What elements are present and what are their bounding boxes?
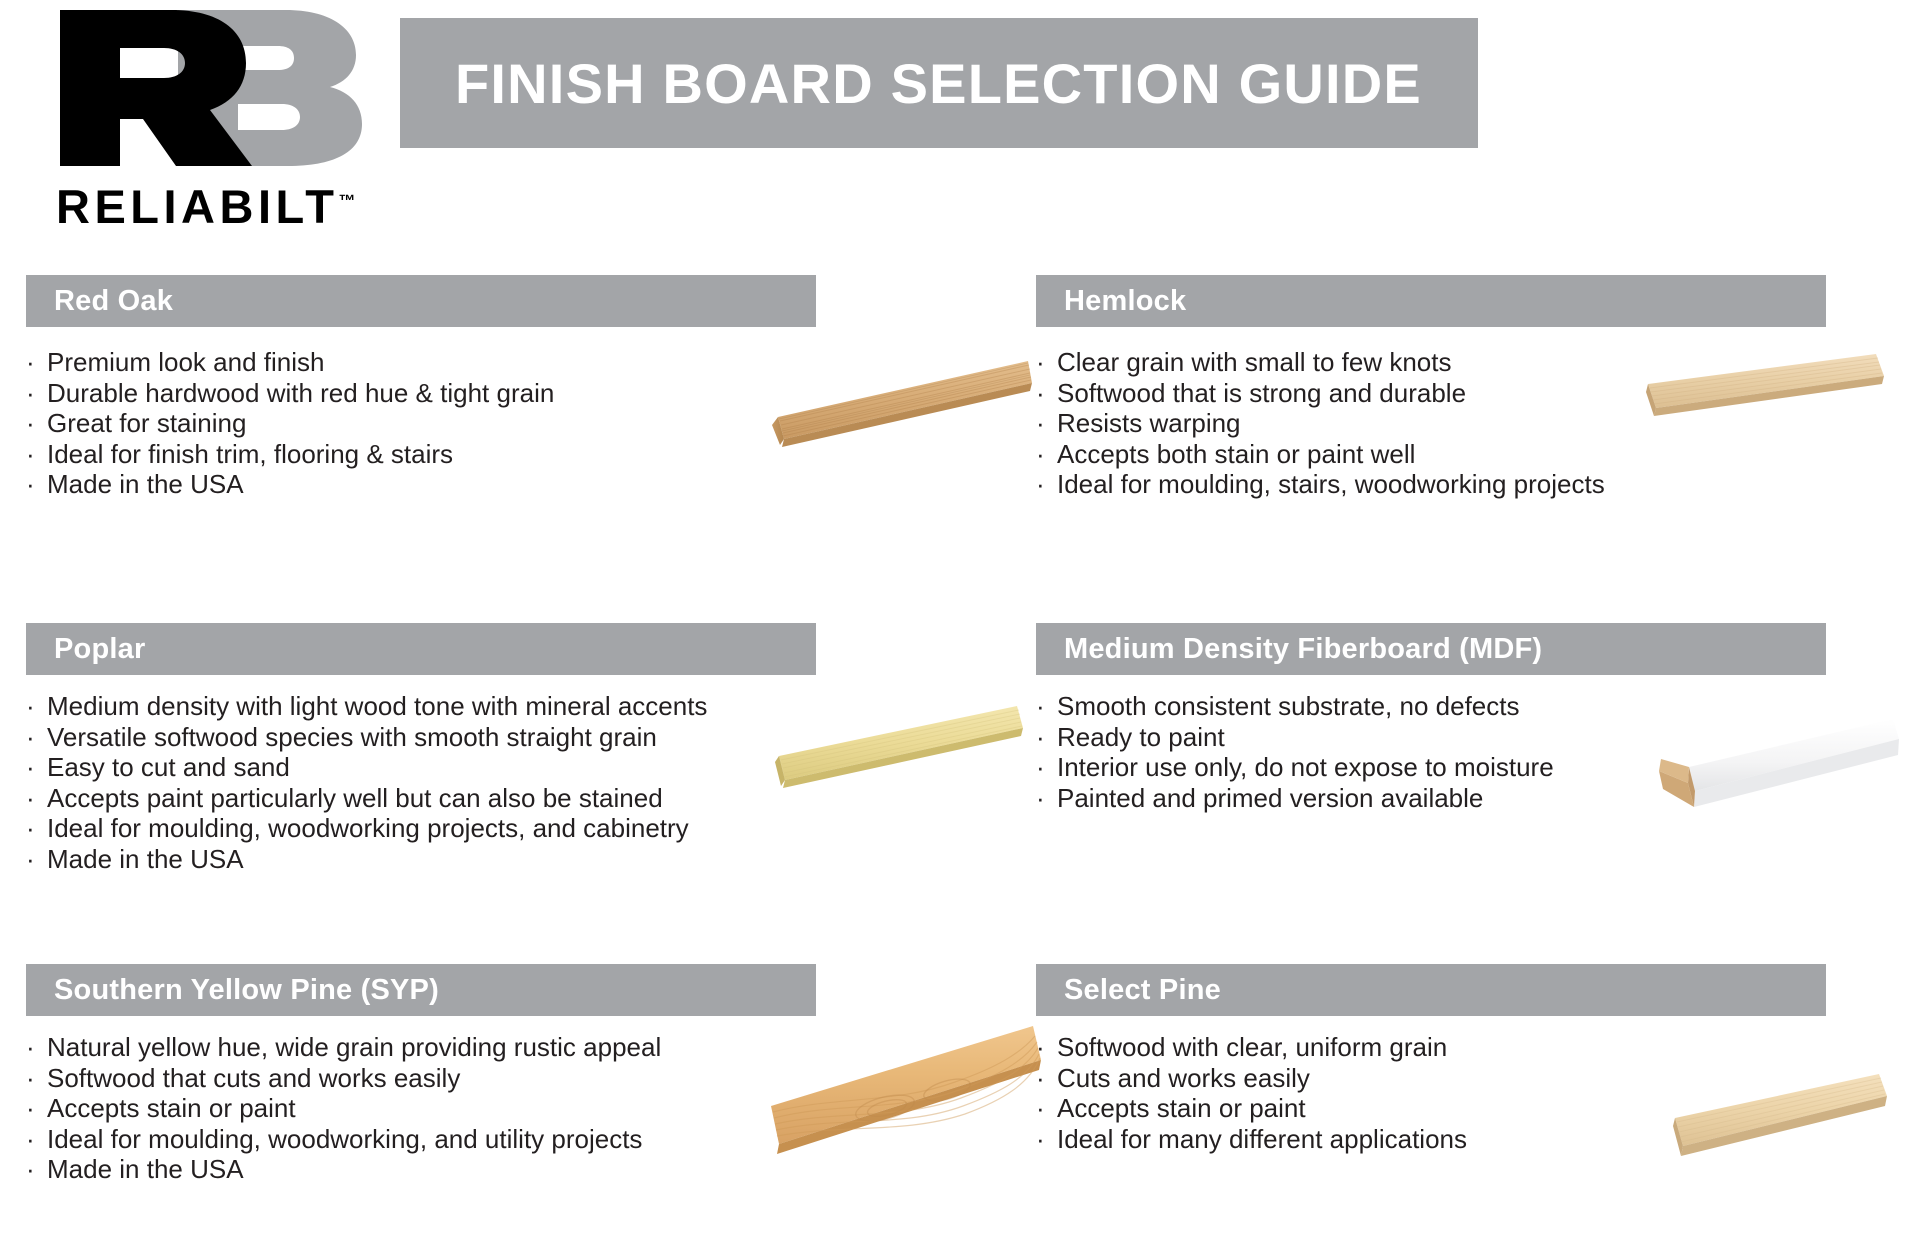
- card-hemlock: Hemlock ·Clear grain with small to few k…: [1036, 275, 1916, 500]
- list-item: ·Softwood that cuts and works easily: [26, 1063, 846, 1094]
- bullet-icon: ·: [1036, 347, 1057, 378]
- bullet-icon: ·: [1036, 752, 1057, 783]
- page-title: FINISH BOARD SELECTION GUIDE: [455, 51, 1422, 116]
- list-item: ·Ideal for many different applications: [1036, 1124, 1916, 1155]
- list-item-text: Smooth consistent substrate, no defects: [1057, 691, 1519, 722]
- card-title: Medium Density Fiberboard (MDF): [1064, 633, 1542, 666]
- list-item-text: Accepts stain or paint: [47, 1093, 296, 1124]
- card-poplar: Poplar ·Medium density with light wood t…: [26, 623, 846, 874]
- list-item: ·Great for staining: [26, 408, 846, 439]
- page-header: RELIABILT™ FINISH BOARD SELECTION GUIDE: [0, 0, 1920, 230]
- list-item: ·Softwood that is strong and durable: [1036, 378, 1916, 409]
- list-item-text: Ideal for finish trim, flooring & stairs: [47, 439, 453, 470]
- card-red-oak: Red Oak ·Premium look and finish ·Durabl…: [26, 275, 846, 500]
- bullet-icon: ·: [26, 813, 47, 844]
- bullet-icon: ·: [1036, 1032, 1057, 1063]
- list-item: ·Accepts paint particularly well but can…: [26, 783, 846, 814]
- list-item-text: Softwood with clear, uniform grain: [1057, 1032, 1447, 1063]
- card-select-pine: Select Pine ·Softwood with clear, unifor…: [1036, 964, 1916, 1154]
- card-header-poplar: Poplar: [26, 623, 816, 675]
- bullet-icon: ·: [26, 1154, 47, 1185]
- list-item: ·Easy to cut and sand: [26, 752, 846, 783]
- list-item: ·Medium density with light wood tone wit…: [26, 691, 846, 722]
- list-item-text: Ideal for moulding, woodworking projects…: [47, 813, 689, 844]
- list-item: ·Resists warping: [1036, 408, 1916, 439]
- bullet-icon: ·: [1036, 1124, 1057, 1155]
- feature-list-syp: ·Natural yellow hue, wide grain providin…: [26, 1016, 846, 1185]
- list-item: ·Softwood with clear, uniform grain: [1036, 1032, 1916, 1063]
- card-title: Red Oak: [54, 285, 173, 318]
- list-item-text: Durable hardwood with red hue & tight gr…: [47, 378, 554, 409]
- bullet-icon: ·: [26, 844, 47, 875]
- bullet-icon: ·: [1036, 469, 1057, 500]
- wood-cards-grid: Red Oak ·Premium look and finish ·Durabl…: [0, 230, 1920, 1244]
- list-item: ·Ideal for finish trim, flooring & stair…: [26, 439, 846, 470]
- list-item: ·Versatile softwood species with smooth …: [26, 722, 846, 753]
- list-item: ·Cuts and works easily: [1036, 1063, 1916, 1094]
- feature-list-select-pine: ·Softwood with clear, uniform grain ·Cut…: [1036, 1016, 1916, 1154]
- card-title: Poplar: [54, 633, 145, 666]
- list-item: ·Accepts stain or paint: [1036, 1093, 1916, 1124]
- card-mdf: Medium Density Fiberboard (MDF) ·Smooth …: [1036, 623, 1916, 813]
- bullet-icon: ·: [26, 1093, 47, 1124]
- card-southern-yellow-pine: Southern Yellow Pine (SYP) ·Natural yell…: [26, 964, 846, 1185]
- trademark-symbol: ™: [338, 191, 355, 210]
- bullet-icon: ·: [1036, 378, 1057, 409]
- reliabilt-wordmark: RELIABILT™: [56, 183, 355, 230]
- list-item: ·Ideal for moulding, woodworking, and ut…: [26, 1124, 846, 1155]
- bullet-icon: ·: [26, 783, 47, 814]
- list-item-text: Ideal for moulding, woodworking, and uti…: [47, 1124, 642, 1155]
- list-item-text: Made in the USA: [47, 1154, 244, 1185]
- bullet-icon: ·: [26, 469, 47, 500]
- list-item-text: Made in the USA: [47, 469, 244, 500]
- list-item-text: Great for staining: [47, 408, 246, 439]
- list-item-text: Accepts paint particularly well but can …: [47, 783, 663, 814]
- list-item-text: Versatile softwood species with smooth s…: [47, 722, 657, 753]
- list-item-text: Clear grain with small to few knots: [1057, 347, 1451, 378]
- card-header-syp: Southern Yellow Pine (SYP): [26, 964, 816, 1016]
- feature-list-poplar: ·Medium density with light wood tone wit…: [26, 675, 846, 874]
- list-item: ·Accepts stain or paint: [26, 1093, 846, 1124]
- list-item: ·Made in the USA: [26, 844, 846, 875]
- list-item-text: Painted and primed version available: [1057, 783, 1483, 814]
- list-item-text: Ideal for moulding, stairs, woodworking …: [1057, 469, 1605, 500]
- bullet-icon: ·: [1036, 408, 1057, 439]
- card-title: Hemlock: [1064, 285, 1186, 318]
- list-item-text: Interior use only, do not expose to mois…: [1057, 752, 1554, 783]
- list-item-text: Resists warping: [1057, 408, 1241, 439]
- list-item: ·Natural yellow hue, wide grain providin…: [26, 1032, 846, 1063]
- bullet-icon: ·: [26, 752, 47, 783]
- bullet-icon: ·: [26, 378, 47, 409]
- list-item: ·Smooth consistent substrate, no defects: [1036, 691, 1916, 722]
- list-item: ·Made in the USA: [26, 1154, 846, 1185]
- card-title: Select Pine: [1064, 974, 1221, 1007]
- bullet-icon: ·: [1036, 783, 1057, 814]
- list-item: ·Clear grain with small to few knots: [1036, 347, 1916, 378]
- bullet-icon: ·: [26, 408, 47, 439]
- title-banner: FINISH BOARD SELECTION GUIDE: [400, 18, 1478, 148]
- bullet-icon: ·: [26, 722, 47, 753]
- bullet-icon: ·: [26, 439, 47, 470]
- list-item-text: Accepts stain or paint: [1057, 1093, 1306, 1124]
- list-item-text: Accepts both stain or paint well: [1057, 439, 1415, 470]
- feature-list-red-oak: ·Premium look and finish ·Durable hardwo…: [26, 327, 846, 500]
- list-item: ·Made in the USA: [26, 469, 846, 500]
- list-item: ·Premium look and finish: [26, 347, 846, 378]
- list-item-text: Ready to paint: [1057, 722, 1225, 753]
- bullet-icon: ·: [1036, 1063, 1057, 1094]
- bullet-icon: ·: [26, 1063, 47, 1094]
- card-header-select-pine: Select Pine: [1036, 964, 1826, 1016]
- list-item: ·Interior use only, do not expose to moi…: [1036, 752, 1916, 783]
- list-item: ·Ready to paint: [1036, 722, 1916, 753]
- list-item-text: Medium density with light wood tone with…: [47, 691, 707, 722]
- list-item-text: Softwood that cuts and works easily: [47, 1063, 460, 1094]
- rb-monogram-icon: [30, 8, 400, 168]
- list-item: ·Ideal for moulding, woodworking project…: [26, 813, 846, 844]
- bullet-icon: ·: [26, 347, 47, 378]
- feature-list-hemlock: ·Clear grain with small to few knots ·So…: [1036, 327, 1916, 500]
- reliabilt-logo: RELIABILT™: [30, 8, 400, 223]
- feature-list-mdf: ·Smooth consistent substrate, no defects…: [1036, 675, 1916, 813]
- card-title: Southern Yellow Pine (SYP): [54, 974, 439, 1007]
- bullet-icon: ·: [1036, 691, 1057, 722]
- list-item-text: Made in the USA: [47, 844, 244, 875]
- card-header-hemlock: Hemlock: [1036, 275, 1826, 327]
- list-item: ·Ideal for moulding, stairs, woodworking…: [1036, 469, 1916, 500]
- list-item: ·Accepts both stain or paint well: [1036, 439, 1916, 470]
- bullet-icon: ·: [26, 1124, 47, 1155]
- list-item-text: Premium look and finish: [47, 347, 324, 378]
- list-item-text: Cuts and works easily: [1057, 1063, 1310, 1094]
- card-header-mdf: Medium Density Fiberboard (MDF): [1036, 623, 1826, 675]
- list-item: ·Durable hardwood with red hue & tight g…: [26, 378, 846, 409]
- bullet-icon: ·: [1036, 722, 1057, 753]
- bullet-icon: ·: [26, 691, 47, 722]
- list-item-text: Ideal for many different applications: [1057, 1124, 1467, 1155]
- bullet-icon: ·: [1036, 439, 1057, 470]
- bullet-icon: ·: [1036, 1093, 1057, 1124]
- bullet-icon: ·: [26, 1032, 47, 1063]
- card-header-red-oak: Red Oak: [26, 275, 816, 327]
- wordmark-text: RELIABILT: [56, 180, 338, 233]
- list-item: ·Painted and primed version available: [1036, 783, 1916, 814]
- list-item-text: Easy to cut and sand: [47, 752, 290, 783]
- list-item-text: Softwood that is strong and durable: [1057, 378, 1466, 409]
- list-item-text: Natural yellow hue, wide grain providing…: [47, 1032, 661, 1063]
